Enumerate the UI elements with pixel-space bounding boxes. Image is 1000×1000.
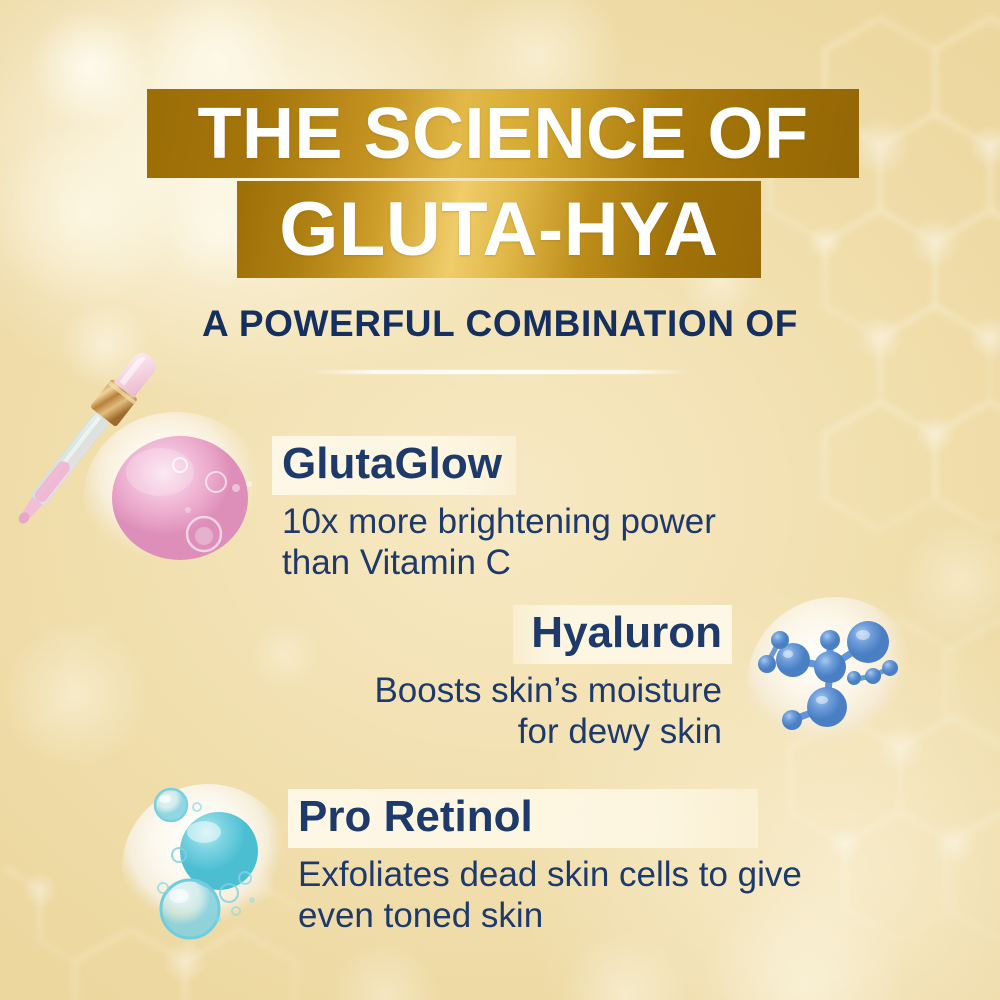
molecule-icon [742, 592, 928, 778]
title-banner-line1: THE SCIENCE OF [147, 89, 859, 178]
poster-canvas: THE SCIENCE OF GLUTA-HYA A POWERFUL COMB… [0, 0, 1000, 1000]
ingredient-description-glutaglow: 10x more brightening power than Vitamin … [272, 501, 716, 584]
ingredient-block-hyaluron: Hyaluron Boosts skin’s moisture for dewy… [374, 605, 732, 752]
ingredient-block-glutaglow: GlutaGlow 10x more brightening power tha… [272, 436, 716, 583]
subtitle-divider [310, 370, 692, 374]
ingredient-name-hyaluron: Hyaluron [513, 605, 732, 664]
ingredient-name-glutaglow: GlutaGlow [272, 436, 516, 495]
serum-dropper-icon [8, 338, 288, 588]
ingredient-description-pro-retinol: Exfoliates dead skin cells to give even … [288, 854, 802, 937]
ingredient-description-hyaluron: Boosts skin’s moisture for dewy skin [374, 670, 732, 753]
title-banner-line2: GLUTA-HYA [237, 181, 761, 278]
ingredient-name-pro-retinol: Pro Retinol [288, 789, 758, 848]
bubbles-icon [118, 782, 298, 954]
ingredient-block-pro-retinol: Pro Retinol Exfoliates dead skin cells t… [288, 789, 802, 936]
